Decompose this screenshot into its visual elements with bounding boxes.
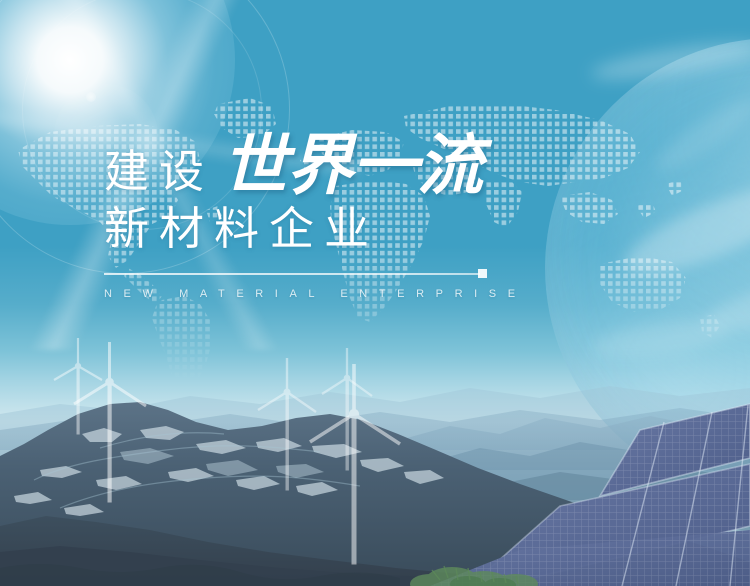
headline-block: 建设 世界一流 新材料企业 NEW MATERIAL ENTERPRISE — [104, 126, 524, 300]
hero-banner: 建设 世界一流 新材料企业 NEW MATERIAL ENTERPRISE — [0, 0, 750, 586]
headline-divider — [104, 273, 480, 275]
headline-emphasis: 世界一流 — [222, 132, 482, 198]
wind-turbines — [0, 330, 750, 586]
headline-prefix: 建设 — [104, 149, 214, 198]
subtitle-text: NEW MATERIAL ENTERPRISE — [104, 288, 524, 300]
headline-line-2: 新材料企业 — [104, 204, 524, 254]
landscape-scene — [0, 330, 750, 586]
divider-end-square — [478, 269, 487, 278]
headline-line-1: 建设 世界一流 — [104, 126, 524, 198]
